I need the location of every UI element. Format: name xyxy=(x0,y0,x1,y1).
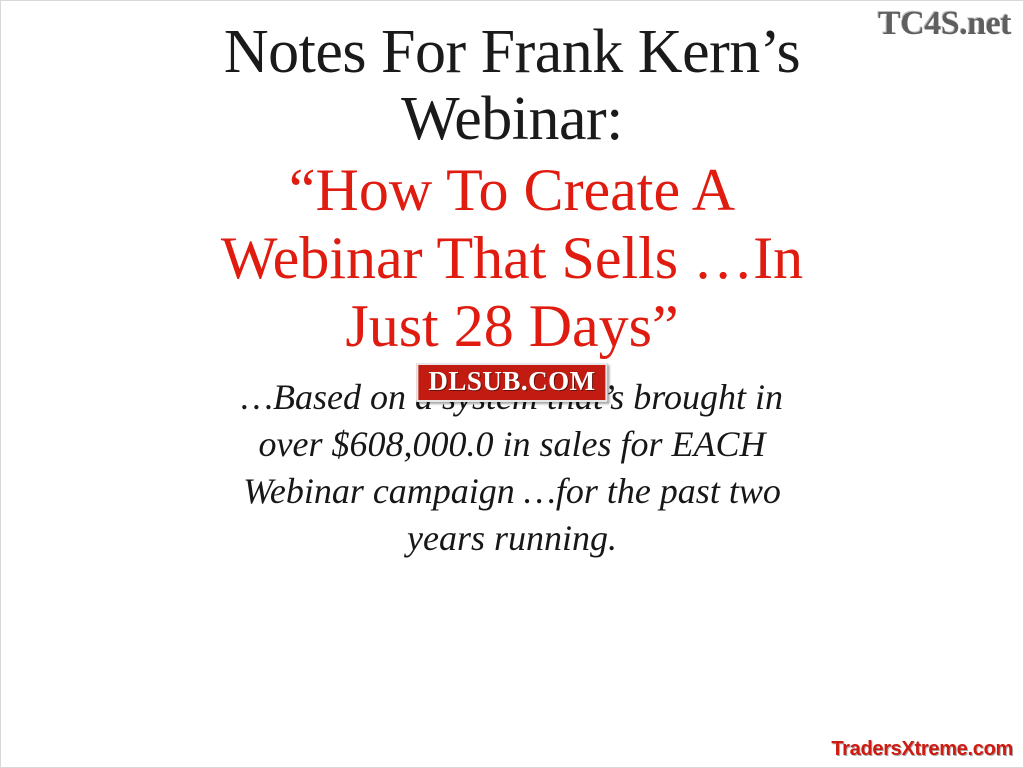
headline-line-1: “How To Create A xyxy=(53,157,971,225)
page-title-line-1: Notes For Frank Kern’s xyxy=(41,19,983,86)
supporting-line-3: Webinar campaign …for the past two xyxy=(79,468,945,515)
watermark-bottom-right: TradersXtreme.com xyxy=(831,738,1013,761)
slide-content: Notes For Frank Kern’s Webinar: “How To … xyxy=(1,19,1023,561)
headline-line-2: Webinar That Sells …In xyxy=(53,225,971,293)
headline-line-3: Just 28 Days” xyxy=(53,293,971,361)
watermark-top-right: TC4S.net xyxy=(878,5,1011,43)
page-title-line-2: Webinar: xyxy=(41,86,983,153)
supporting-paragraph: …Based on a system that’s brought in ove… xyxy=(1,374,1023,561)
supporting-line-4: years running. xyxy=(79,515,945,562)
watermark-center-badge: DLSUB.COM xyxy=(416,363,607,402)
page-subtitle-headline: “How To Create A Webinar That Sells …In … xyxy=(1,157,1023,360)
supporting-line-2: over $608,000.0 in sales for EACH xyxy=(79,421,945,468)
slide-canvas: Notes For Frank Kern’s Webinar: “How To … xyxy=(0,0,1024,768)
page-title: Notes For Frank Kern’s Webinar: xyxy=(1,19,1023,153)
